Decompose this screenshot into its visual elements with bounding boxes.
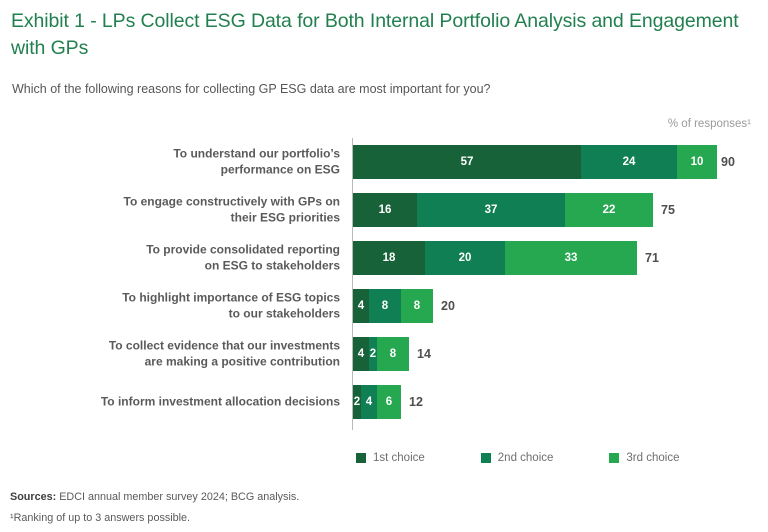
segment-value: 33 xyxy=(565,252,578,264)
segment-value: 8 xyxy=(414,300,420,312)
segment-value: 10 xyxy=(691,156,704,168)
category-label: To highlight importance of ESG topicsto … xyxy=(10,291,340,322)
category-label-line: on ESG to stakeholders xyxy=(10,258,340,274)
legend-item[interactable]: 2nd choice xyxy=(481,452,554,464)
segment-value: 24 xyxy=(623,156,636,168)
legend-swatch-icon xyxy=(356,453,366,463)
bar-row: To collect evidence that our investments… xyxy=(0,330,768,378)
bar-segment-1: 18 xyxy=(353,241,425,275)
bar-segment-2: 24 xyxy=(581,145,677,179)
stacked-bar: 572410 xyxy=(353,145,717,179)
category-label-line: To understand our portfolio’s xyxy=(10,147,340,163)
segment-value: 8 xyxy=(382,300,388,312)
sources-label: Sources: xyxy=(10,491,56,503)
bar-segment-3: 6 xyxy=(377,385,401,419)
page-title: Exhibit 1 - LPs Collect ESG Data for Bot… xyxy=(11,8,751,62)
bar-segment-1: 4 xyxy=(353,289,369,323)
segment-value: 2 xyxy=(370,348,376,360)
stacked-bar: 246 xyxy=(353,385,401,419)
bar-segment-1: 2 xyxy=(353,385,361,419)
segment-value: 8 xyxy=(390,348,396,360)
bar-segment-2: 37 xyxy=(417,193,565,227)
segment-value: 4 xyxy=(358,348,364,360)
legend-label: 2nd choice xyxy=(498,452,554,464)
category-label-line: To engage constructively with GPs on xyxy=(10,195,340,211)
bar-segment-2: 20 xyxy=(425,241,505,275)
bar-total-label: 90 xyxy=(721,155,735,169)
segment-value: 16 xyxy=(379,204,392,216)
segment-value: 4 xyxy=(358,300,364,312)
bar-total-label: 75 xyxy=(661,203,675,217)
category-label-line: To collect evidence that our investments xyxy=(10,339,340,355)
bar-segment-3: 33 xyxy=(505,241,637,275)
segment-value: 22 xyxy=(603,204,616,216)
footer: Sources: EDCI annual member survey 2024;… xyxy=(10,491,750,524)
category-label-line: performance on ESG xyxy=(10,162,340,178)
legend-item[interactable]: 1st choice xyxy=(356,452,425,464)
bar-row: To inform investment allocation decision… xyxy=(0,378,768,426)
category-label: To inform investment allocation decision… xyxy=(10,394,340,410)
category-label: To engage constructively with GPs onthei… xyxy=(10,195,340,226)
stacked-bar: 182033 xyxy=(353,241,637,275)
category-label-line: their ESG priorities xyxy=(10,210,340,226)
segment-value: 37 xyxy=(485,204,498,216)
chart-area: % of responses¹ To understand our portfo… xyxy=(0,110,768,440)
bar-row: To engage constructively with GPs onthei… xyxy=(0,186,768,234)
stacked-bar: 488 xyxy=(353,289,433,323)
bar-total-label: 20 xyxy=(441,299,455,313)
category-label-line: To highlight importance of ESG topics xyxy=(10,291,340,307)
bar-segment-1: 4 xyxy=(353,337,369,371)
bar-segment-2: 4 xyxy=(361,385,377,419)
legend-swatch-icon xyxy=(481,453,491,463)
bar-segment-3: 10 xyxy=(677,145,717,179)
legend-label: 1st choice xyxy=(373,452,425,464)
segment-value: 57 xyxy=(461,156,474,168)
bar-segment-1: 16 xyxy=(353,193,417,227)
legend-swatch-icon xyxy=(609,453,619,463)
segment-value: 6 xyxy=(386,396,392,408)
stacked-bar: 428 xyxy=(353,337,409,371)
segment-value: 4 xyxy=(366,396,372,408)
bar-segment-1: 57 xyxy=(353,145,581,179)
bar-total-label: 71 xyxy=(645,251,659,265)
category-label-line: to our stakeholders xyxy=(10,306,340,322)
footnote: ¹Ranking of up to 3 answers possible. xyxy=(10,512,750,524)
category-label-line: To inform investment allocation decision… xyxy=(10,394,340,410)
bar-row: To provide consolidated reportingon ESG … xyxy=(0,234,768,282)
bar-row: To understand our portfolio’sperformance… xyxy=(0,138,768,186)
category-label: To collect evidence that our investments… xyxy=(10,339,340,370)
bar-rows: To understand our portfolio’sperformance… xyxy=(0,138,768,426)
bar-segment-2: 2 xyxy=(369,337,377,371)
legend-item[interactable]: 3rd choice xyxy=(609,452,679,464)
bar-total-label: 12 xyxy=(409,395,423,409)
bar-segment-3: 8 xyxy=(377,337,409,371)
sources-line: Sources: EDCI annual member survey 2024;… xyxy=(10,491,750,503)
chart-subtitle: Which of the following reasons for colle… xyxy=(12,81,732,98)
sources-text: EDCI annual member survey 2024; BCG anal… xyxy=(59,491,299,503)
bar-total-label: 14 xyxy=(417,347,431,361)
stacked-bar: 163722 xyxy=(353,193,653,227)
category-label: To provide consolidated reportingon ESG … xyxy=(10,243,340,274)
chart-legend: 1st choice2nd choice3rd choice xyxy=(356,452,735,464)
category-label: To understand our portfolio’sperformance… xyxy=(10,147,340,178)
category-label-line: are making a positive contribution xyxy=(10,354,340,370)
legend-label: 3rd choice xyxy=(626,452,679,464)
segment-value: 18 xyxy=(383,252,396,264)
bar-segment-2: 8 xyxy=(369,289,401,323)
bar-segment-3: 22 xyxy=(565,193,653,227)
segment-value: 2 xyxy=(354,396,360,408)
bar-segment-3: 8 xyxy=(401,289,433,323)
segment-value: 20 xyxy=(459,252,472,264)
axis-unit-label: % of responses¹ xyxy=(668,118,751,130)
category-label-line: To provide consolidated reporting xyxy=(10,243,340,259)
bar-row: To highlight importance of ESG topicsto … xyxy=(0,282,768,330)
